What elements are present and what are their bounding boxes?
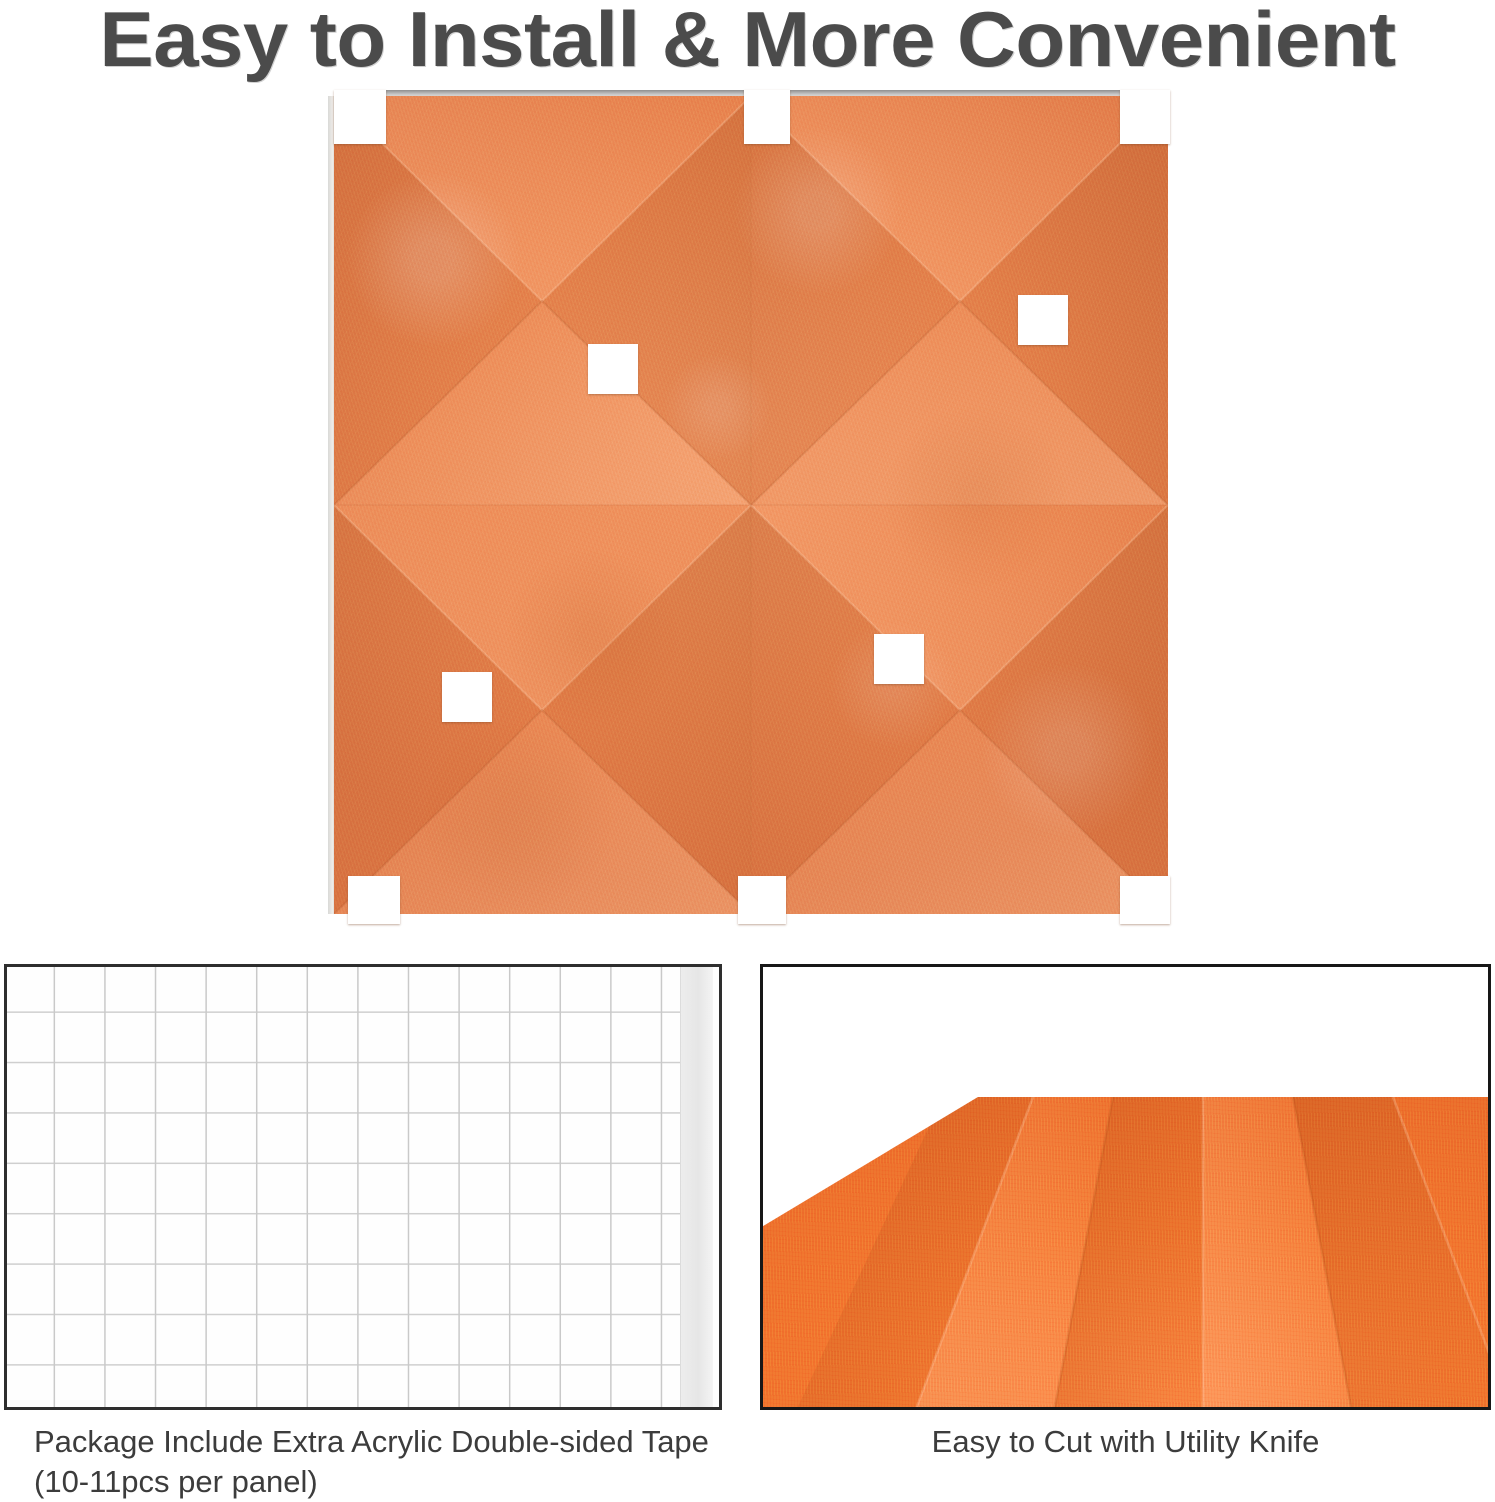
tape-sheet-caption: Package Include Extra Acrylic Double-sid…: [34, 1422, 724, 1502]
tape-grid-pattern: [4, 964, 687, 1410]
tape-square-top-right-corner: [1120, 90, 1170, 144]
tape-square-bottom-left-corner: [348, 876, 400, 924]
knife-cut-panel: [760, 964, 1491, 1410]
tape-sheet-backing-margin: [680, 967, 713, 1407]
tape-square-bottom-center: [738, 876, 786, 924]
tape-square-upper-left-inner: [588, 344, 638, 394]
tape-square-lower-center: [874, 634, 924, 684]
tape-square-lower-left-inner: [442, 672, 492, 722]
orange-panel-being-cut: [760, 1097, 1491, 1410]
tape-sheet-panel: [4, 964, 722, 1410]
felt-fibre-texture: [334, 96, 1168, 914]
acrylic-double-sided-tape-sheet: [7, 967, 719, 1407]
tape-square-top-left-corner: [334, 90, 386, 144]
acoustic-panel-face: [334, 96, 1168, 914]
tape-square-bottom-right-corner: [1120, 876, 1170, 924]
page-title: Easy to Install & More Convenient: [0, 0, 1495, 82]
tape-square-top-center: [744, 90, 790, 144]
tape-square-mid-right: [1018, 295, 1068, 345]
cut-panel-fibre-texture: [760, 1097, 1491, 1410]
knife-cut-caption: Easy to Cut with Utility Knife: [760, 1422, 1491, 1462]
hero-product-image: [328, 88, 1170, 918]
panel-felt-surface: [760, 1097, 1491, 1410]
